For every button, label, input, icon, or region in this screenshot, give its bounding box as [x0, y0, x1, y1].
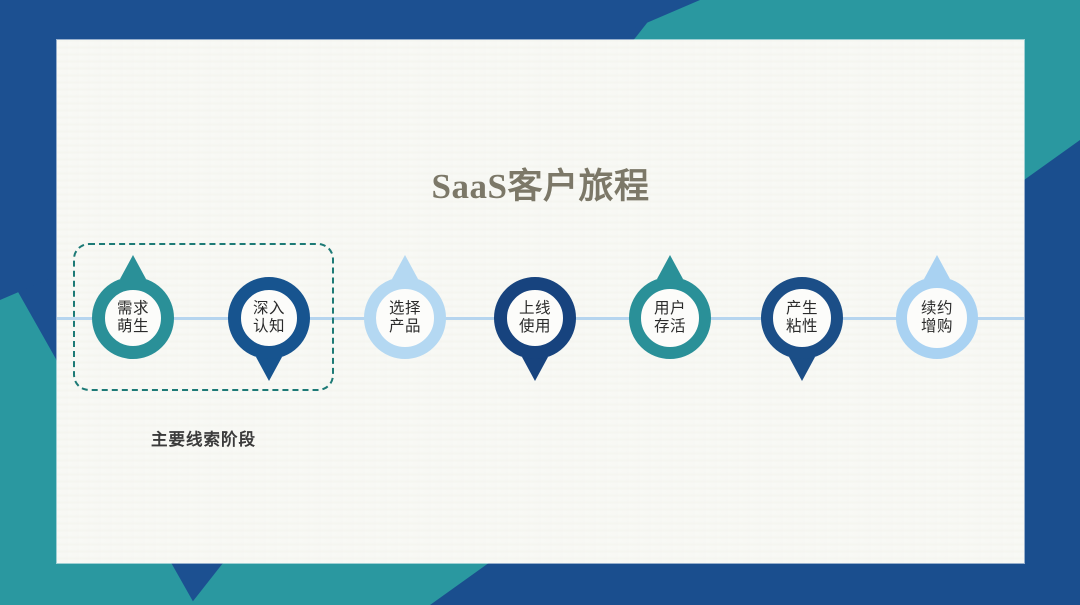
pin-label: 续约 增购: [896, 277, 978, 359]
journey-stage-pin[interactable]: 续约 增购: [896, 277, 978, 359]
journey-stage-pin[interactable]: 用户 存活: [629, 277, 711, 359]
pin-label: 选择 产品: [364, 277, 446, 359]
pin-label-line2: 存活: [654, 318, 686, 336]
pin-label-line1: 续约: [921, 300, 953, 318]
pin-pointer-icon: [657, 255, 683, 279]
pin-label: 深入 认知: [228, 277, 310, 359]
journey-stage-list: 需求 萌生 深入 认知 选择 产品: [57, 40, 1024, 563]
pin-pointer-icon: [789, 357, 815, 381]
pin-label: 用户 存活: [629, 277, 711, 359]
pin-label-line1: 选择: [389, 300, 421, 318]
journey-stage-pin[interactable]: 深入 认知: [228, 277, 310, 359]
pin-label-line1: 产生: [786, 300, 818, 318]
pin-label-line2: 粘性: [786, 318, 818, 336]
pin-label-line1: 上线: [519, 300, 551, 318]
journey-stage-pin[interactable]: 选择 产品: [364, 277, 446, 359]
pin-label: 上线 使用: [494, 277, 576, 359]
pin-label-line1: 深入: [253, 300, 285, 318]
pin-label-line2: 产品: [389, 318, 421, 336]
pin-label: 需求 萌生: [92, 277, 174, 359]
journey-stage-pin[interactable]: 需求 萌生: [92, 277, 174, 359]
slide-canvas: SaaS客户旅程 主要线索阶段 需求 萌生 深入 认知: [0, 0, 1080, 605]
journey-stage-pin[interactable]: 上线 使用: [494, 277, 576, 359]
pin-pointer-icon: [924, 255, 950, 279]
pin-label-line2: 萌生: [117, 318, 149, 336]
pin-label-line2: 增购: [921, 318, 953, 336]
pin-pointer-icon: [522, 357, 548, 381]
pin-pointer-icon: [120, 255, 146, 279]
journey-stage-pin[interactable]: 产生 粘性: [761, 277, 843, 359]
slide-card: SaaS客户旅程 主要线索阶段 需求 萌生 深入 认知: [57, 40, 1024, 563]
pin-label-line1: 用户: [654, 300, 686, 318]
pin-label-line2: 认知: [253, 318, 285, 336]
pin-label-line1: 需求: [117, 300, 149, 318]
pin-label-line2: 使用: [519, 318, 551, 336]
pin-pointer-icon: [256, 357, 282, 381]
pin-label: 产生 粘性: [761, 277, 843, 359]
pin-pointer-icon: [392, 255, 418, 279]
